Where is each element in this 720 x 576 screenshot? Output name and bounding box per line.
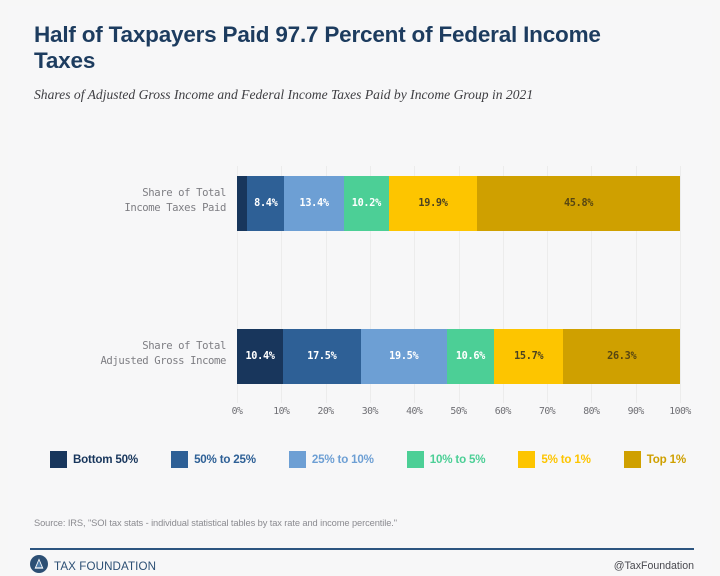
bar-segment-label: 15.7% [514, 351, 543, 362]
legend-swatch-icon [518, 451, 535, 468]
x-axis-tick-label: 70% [539, 406, 555, 417]
legend-item[interactable]: 25% to 10% [289, 451, 374, 468]
bar-segment[interactable]: 8.4% [247, 176, 284, 231]
legend-swatch-icon [289, 451, 306, 468]
source-note: Source: IRS, "SOI tax stats - individual… [34, 518, 397, 528]
bar-segment-label: 8.4% [254, 198, 277, 209]
bar-segment-label: 45.8% [564, 198, 593, 209]
legend-label: 25% to 10% [312, 453, 374, 466]
category-label-line: Adjusted Gross Income [56, 354, 226, 369]
category-label-adjusted-gross-income: Share of TotalAdjusted Gross Income [56, 339, 226, 368]
social-handle: @TaxFoundation [614, 560, 694, 572]
bar-segment[interactable]: 10.2% [344, 176, 389, 231]
x-axis-tick-label: 10% [273, 406, 289, 417]
x-axis-tick-label: 20% [317, 406, 333, 417]
stacked-bar-row[interactable]: 10.4%17.5%19.5%10.6%15.7%26.3% [237, 329, 680, 384]
bar-segment-label: 19.9% [418, 198, 447, 209]
bar-segment-label: 10.6% [456, 351, 485, 362]
bar-segment-label: 13.4% [299, 198, 328, 209]
page-title: Half of Taxpayers Paid 97.7 Percent of F… [34, 22, 654, 74]
plot-area: 2.3%8.4%13.4%10.2%19.9%45.8%10.4%17.5%19… [237, 166, 680, 403]
legend-item[interactable]: 5% to 1% [518, 451, 590, 468]
bar-segment[interactable]: 45.8% [477, 176, 680, 231]
x-axis: 0%10%20%30%40%50%60%70%80%90%100% [237, 406, 680, 422]
legend-label: 10% to 5% [430, 453, 486, 466]
x-axis-tick-label: 50% [450, 406, 466, 417]
category-label-line: Share of Total [56, 339, 226, 354]
brand-name: TAX FOUNDATION [54, 560, 156, 573]
footer-divider [30, 548, 694, 550]
bar-segment-label: 19.5% [389, 351, 418, 362]
chart-card: Half of Taxpayers Paid 97.7 Percent of F… [8, 6, 712, 570]
x-axis-tick-label: 40% [406, 406, 422, 417]
category-label-income-taxes-paid: Share of TotalIncome Taxes Paid [56, 186, 226, 215]
footer-bar: TAX FOUNDATION @TaxFoundation [30, 554, 694, 576]
legend-item[interactable]: Bottom 50% [50, 451, 138, 468]
bar-segment[interactable]: 19.5% [361, 329, 447, 384]
grid-line [680, 166, 681, 403]
chart-legend: Bottom 50%50% to 25%25% to 10%10% to 5%5… [42, 443, 694, 475]
x-axis-tick-label: 80% [583, 406, 599, 417]
category-label-line: Share of Total [56, 186, 226, 201]
x-axis-tick-label: 60% [495, 406, 511, 417]
bar-segment-label: 26.3% [607, 351, 636, 362]
bar-segment[interactable]: 10.6% [447, 329, 494, 384]
legend-item[interactable]: Top 1% [624, 451, 686, 468]
legend-label: Bottom 50% [73, 453, 138, 466]
legend-item[interactable]: 10% to 5% [407, 451, 486, 468]
category-label-line: Income Taxes Paid [56, 201, 226, 216]
brand-block: TAX FOUNDATION [30, 555, 156, 576]
bar-segment-label: 17.5% [307, 351, 336, 362]
bar-segment[interactable]: 15.7% [494, 329, 564, 384]
legend-swatch-icon [624, 451, 641, 468]
tax-foundation-logo-icon [30, 555, 48, 576]
x-axis-tick-label: 100% [669, 406, 691, 417]
x-axis-tick-label: 0% [232, 406, 243, 417]
legend-label: 50% to 25% [194, 453, 256, 466]
legend-swatch-icon [407, 451, 424, 468]
bar-segment[interactable]: 26.3% [563, 329, 680, 384]
x-axis-tick-label: 90% [628, 406, 644, 417]
legend-item[interactable]: 50% to 25% [171, 451, 256, 468]
bar-segment-label: 10.2% [352, 198, 381, 209]
legend-swatch-icon [171, 451, 188, 468]
bar-segment[interactable]: 10.4% [237, 329, 283, 384]
stacked-bar-row[interactable]: 2.3%8.4%13.4%10.2%19.9%45.8% [237, 176, 680, 231]
bar-segment[interactable]: 2.3% [237, 176, 247, 231]
legend-label: 5% to 1% [541, 453, 590, 466]
bar-segment[interactable]: 19.9% [389, 176, 477, 231]
legend-swatch-icon [50, 451, 67, 468]
legend-label: Top 1% [647, 453, 686, 466]
page-subtitle: Shares of Adjusted Gross Income and Fede… [34, 86, 682, 105]
bar-segment-label: 10.4% [245, 351, 274, 362]
bar-segment[interactable]: 17.5% [283, 329, 361, 384]
bar-segment[interactable]: 13.4% [284, 176, 343, 231]
x-axis-tick-label: 30% [362, 406, 378, 417]
chart-page: Half of Taxpayers Paid 97.7 Percent of F… [0, 0, 720, 576]
